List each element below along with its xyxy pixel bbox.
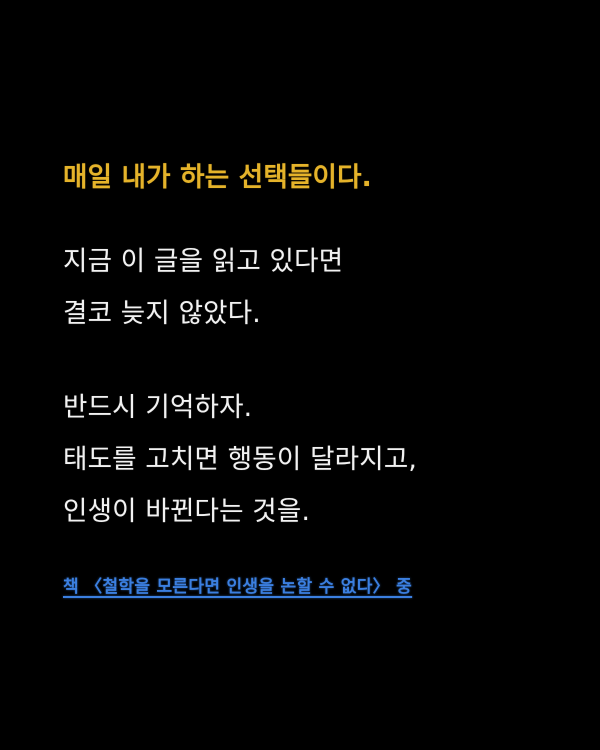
quote-line: 반드시 기억하자. [63, 382, 563, 434]
quote-text-block: 매일 내가 하는 선택들이다. 지금 이 글을 읽고 있다면 결코 늦지 않았다… [63, 158, 563, 600]
paragraph-highlight: 매일 내가 하는 선택들이다. [63, 158, 563, 198]
quote-line: 결코 늦지 않았다. [63, 288, 563, 340]
citation-row: 책 〈철학을 모른다면 인생을 논할 수 없다〉 중 [63, 574, 563, 600]
quote-line: 인생이 바뀐다는 것을. [63, 486, 563, 538]
paragraph-body-2: 반드시 기억하자. 태도를 고치면 행동이 달라지고, 인생이 바뀐다는 것을. [63, 382, 563, 538]
source-citation-link[interactable]: 책 〈철학을 모른다면 인생을 논할 수 없다〉 중 [63, 574, 412, 600]
quote-card: 매일 내가 하는 선택들이다. 지금 이 글을 읽고 있다면 결코 늦지 않았다… [0, 0, 600, 750]
quote-line: 태도를 고치면 행동이 달라지고, [63, 434, 563, 486]
quote-line: 지금 이 글을 읽고 있다면 [63, 236, 563, 288]
paragraph-body-1: 지금 이 글을 읽고 있다면 결코 늦지 않았다. [63, 236, 563, 340]
quote-line: 매일 내가 하는 선택들이다. [63, 158, 563, 198]
